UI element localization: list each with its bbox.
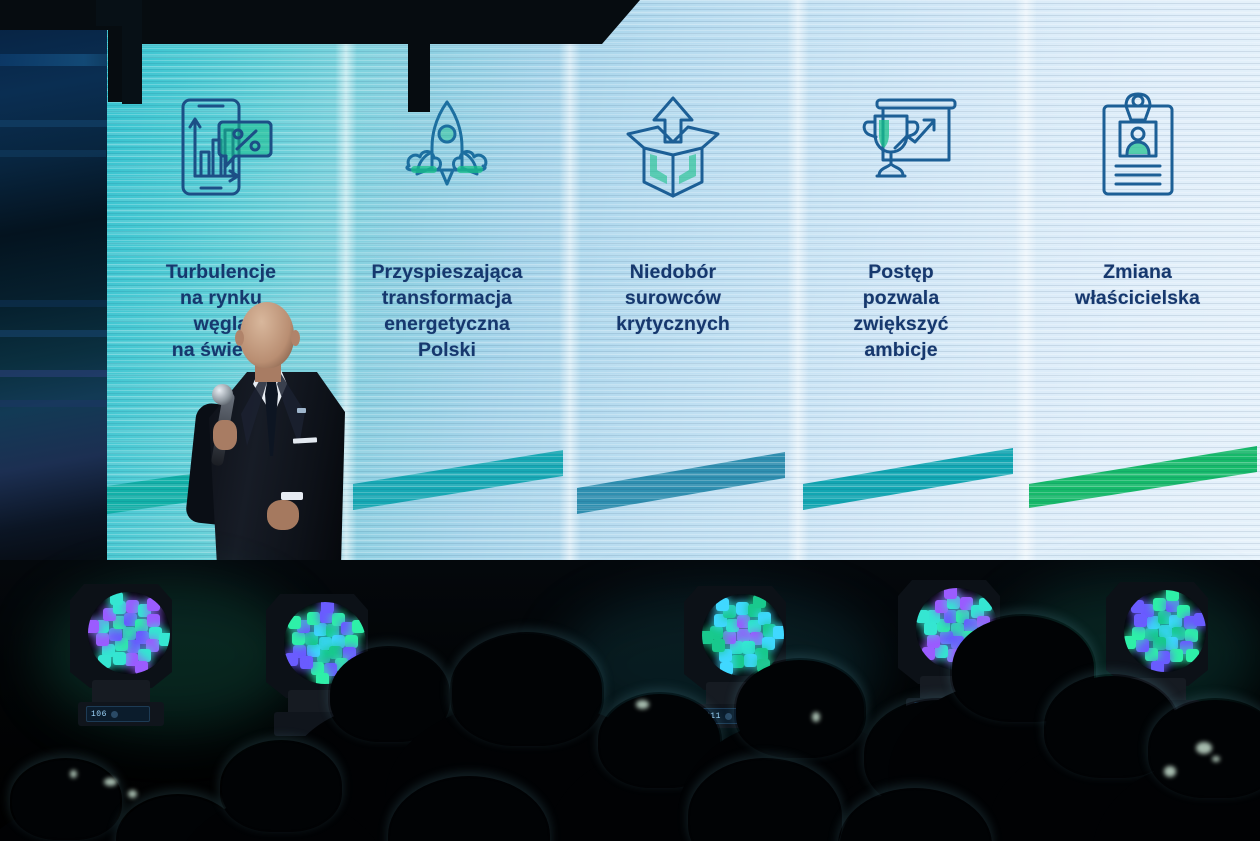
fixture-led	[321, 602, 334, 613]
fixture-led	[135, 619, 148, 632]
fixture-knob[interactable]	[111, 711, 118, 718]
fixture-led	[292, 632, 305, 645]
fixture-led	[736, 602, 749, 615]
fixture-led	[702, 631, 713, 644]
slide-panel-4: Postęp pozwala zwiększyć ambicje	[787, 0, 1015, 566]
slide-panel-3: Niedobór surowców krytycznych	[559, 0, 787, 566]
speaker-ear-right	[291, 330, 300, 346]
fixture-led	[1131, 600, 1144, 613]
fixture-led	[716, 598, 729, 611]
fixture-led	[1166, 590, 1179, 601]
stage-photo: Turbulencje na rynku węgla na świecie Pr…	[0, 0, 1260, 841]
fixture-led	[113, 652, 126, 665]
fixture-led	[753, 595, 766, 608]
trophy-growth-chart-icon	[841, 88, 961, 208]
light-glint	[1212, 756, 1220, 762]
fixture-led	[135, 661, 148, 674]
fixture-led	[147, 598, 160, 611]
fixture-led	[723, 631, 736, 644]
fixture-led	[147, 614, 160, 627]
light-glint	[128, 790, 137, 798]
fixture-led	[1185, 629, 1198, 642]
fixture-led	[773, 626, 784, 639]
fixture-head: •••	[70, 584, 172, 688]
fixture-led	[316, 673, 329, 684]
audience-head	[452, 634, 602, 744]
fixture-led	[345, 635, 358, 648]
fixture-led	[927, 635, 940, 648]
speaker-ear-left	[235, 330, 244, 346]
light-glint	[1196, 742, 1212, 754]
fixture-led	[916, 610, 929, 623]
fixture-led	[1153, 598, 1166, 611]
fixture-led	[979, 598, 992, 611]
speaker-cuff	[281, 492, 303, 500]
mobile-analytics-percent-icon	[165, 88, 277, 208]
id-badge-clipboard-icon	[1086, 88, 1190, 208]
fixture-display: 106	[86, 706, 150, 722]
light-glint	[1164, 766, 1176, 777]
fixture-led	[944, 588, 957, 599]
fixture-led	[1134, 614, 1147, 627]
microphone-head	[212, 384, 233, 405]
slide-panel-3-caption: Niedobór surowców krytycznych	[616, 260, 730, 338]
slide-panel-5-caption: Zmiana właścicielska	[1075, 260, 1200, 312]
slide-panel-2-caption: Przyspieszająca transformacja energetycz…	[371, 260, 522, 364]
fixture-led	[1186, 649, 1199, 662]
fixture-led	[314, 623, 327, 636]
speaker-hand-right	[267, 500, 299, 530]
fixture-led	[1170, 649, 1183, 662]
fixture-led	[1194, 613, 1206, 626]
audience-head	[12, 760, 120, 838]
moving-head-fixture-1: ••• 106	[62, 584, 180, 734]
fixture-led	[1124, 636, 1136, 649]
fixture-lens	[88, 592, 170, 674]
open-box-arrow-up-icon	[614, 88, 732, 208]
audience-head	[222, 742, 340, 830]
fixture-led	[1136, 639, 1149, 652]
rocket-launch-icon	[391, 88, 503, 208]
fixture-led	[288, 616, 301, 629]
fixture-led	[935, 600, 948, 613]
fixture-led	[110, 592, 123, 605]
speaker-silhouette	[185, 296, 355, 566]
fixture-led	[109, 628, 122, 641]
fixture-led	[1165, 637, 1178, 650]
audience-head	[736, 660, 864, 756]
fixture-knob[interactable]	[725, 713, 732, 720]
slide-panel-5: Zmiana właścicielska	[1015, 0, 1260, 566]
fixture-address: 106	[91, 710, 107, 719]
light-glint	[812, 712, 820, 722]
fixture-led	[352, 620, 365, 633]
speaker-hand-left	[213, 420, 237, 450]
fixture-led	[720, 662, 733, 675]
fixture-led	[922, 647, 935, 660]
fixture-led	[285, 653, 298, 666]
fixture-led	[88, 620, 99, 633]
fixture-lens	[1124, 590, 1206, 672]
fixture-led	[98, 655, 111, 668]
speaker-head	[240, 302, 294, 368]
fixture-led	[744, 654, 757, 667]
fixture-led	[96, 633, 109, 646]
fixture-led	[300, 656, 313, 669]
fixture-led	[712, 639, 725, 652]
speaker-lapel-pin	[297, 408, 306, 413]
light-glint	[636, 700, 649, 709]
fixture-led	[1151, 661, 1164, 672]
fixture-led	[159, 633, 170, 646]
fixture-head	[1106, 582, 1208, 686]
slide-panel-2: Przyspieszająca transformacja energetycz…	[335, 0, 559, 566]
fixture-led	[924, 622, 937, 635]
fixture-led	[307, 612, 320, 625]
fixture-led	[742, 641, 755, 654]
fixture-led	[138, 649, 151, 662]
slide-panel-4-caption: Postęp pozwala zwiększyć ambicje	[853, 260, 948, 364]
